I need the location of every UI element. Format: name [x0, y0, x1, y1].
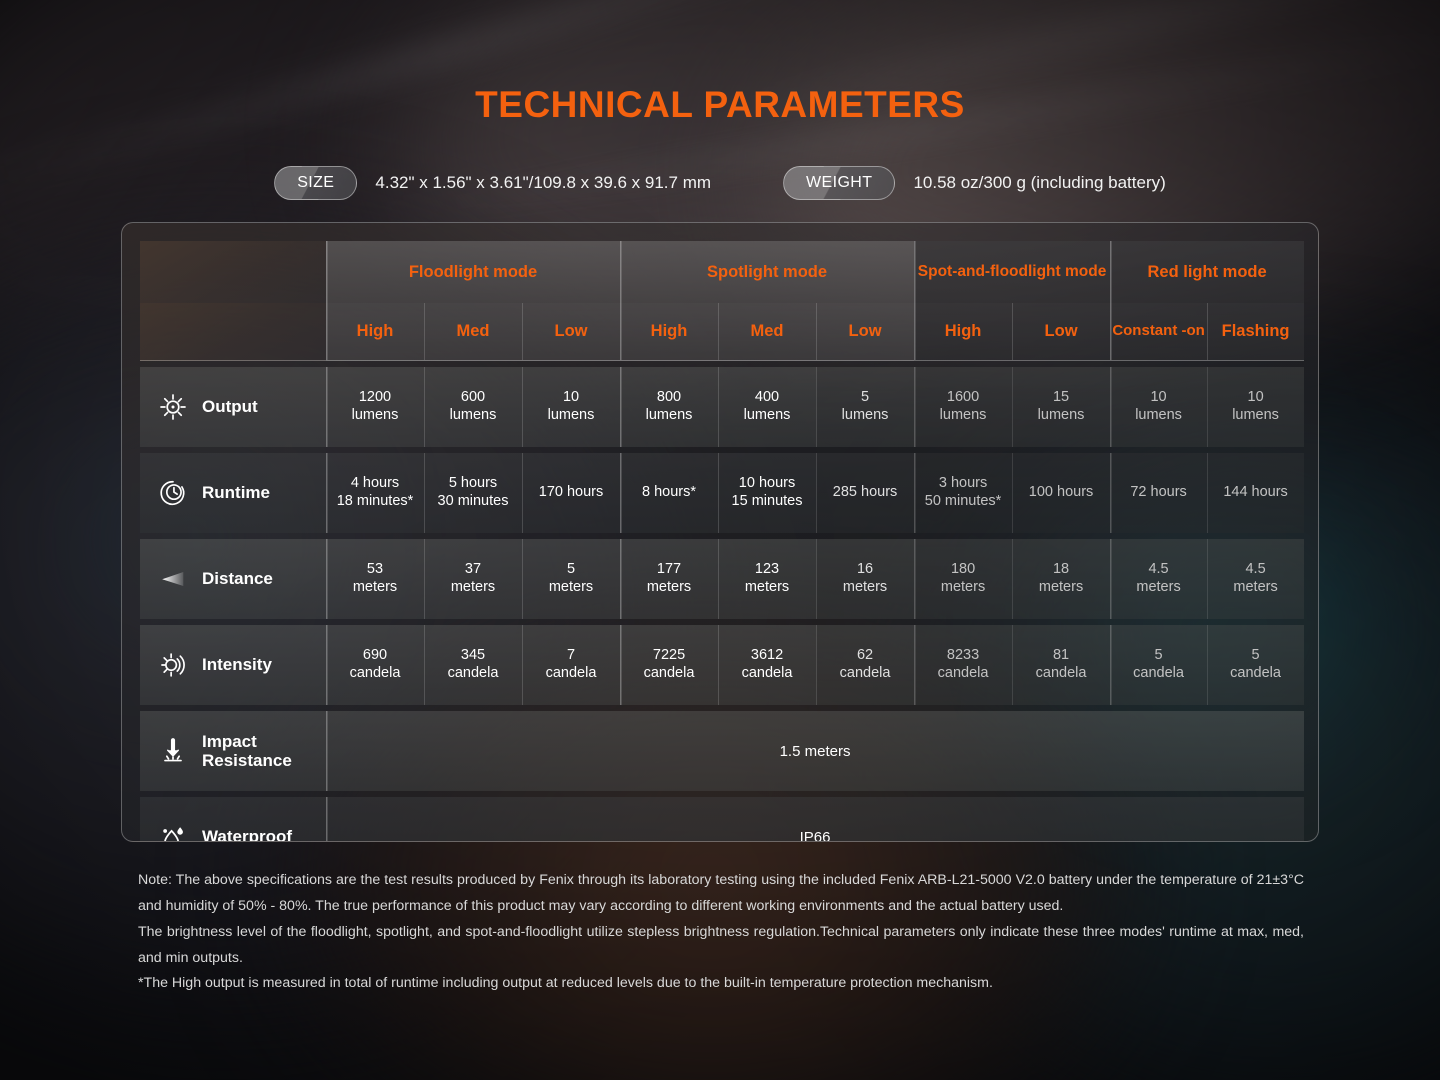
level-header-spotflood-high: High — [914, 303, 1012, 361]
waterdrop-icon — [158, 822, 188, 842]
spec-summary-row: SIZE 4.32" x 1.56" x 3.61"/109.8 x 39.6 … — [0, 166, 1440, 200]
cell-intensity-1: 345candela — [424, 625, 522, 705]
cell-runtime-8: 72 hours — [1110, 453, 1207, 533]
level-header-flood-low: Low — [522, 303, 620, 361]
level-header-spot-high: High — [620, 303, 718, 361]
cell-runtime-1: 5 hours30 minutes — [424, 453, 522, 533]
impact-icon — [158, 736, 188, 766]
cell-distance-9: 4.5meters — [1207, 539, 1304, 619]
cell-output-0: 1200lumens — [326, 367, 424, 447]
cell-runtime-9: 144 hours — [1207, 453, 1304, 533]
cell-runtime-2: 170 hours — [522, 453, 620, 533]
cell-intensity-5: 62candela — [816, 625, 914, 705]
cell-output-8: 10lumens — [1110, 367, 1207, 447]
row-label-runtime: Runtime — [140, 453, 326, 533]
mode-group-header-row: Floodlight mode Spotlight mode Spot-and-… — [140, 241, 1304, 303]
row-label-waterproof: Waterproof — [140, 797, 326, 842]
table-row-runtime: Runtime 4 hours18 minutes* 5 hours30 min… — [140, 453, 1304, 533]
cell-distance-8: 4.5meters — [1110, 539, 1207, 619]
cell-runtime-4: 10 hours15 minutes — [718, 453, 816, 533]
row-label-distance: Distance — [140, 539, 326, 619]
cell-intensity-0: 690candela — [326, 625, 424, 705]
size-pill-label: SIZE — [274, 166, 357, 200]
cell-intensity-7: 81candela — [1012, 625, 1110, 705]
cell-intensity-6: 8233candela — [914, 625, 1012, 705]
cell-runtime-7: 100 hours — [1012, 453, 1110, 533]
footnotes: Note: The above specifications are the t… — [138, 868, 1304, 997]
specifications-table-panel: Floodlight mode Spotlight mode Spot-and-… — [121, 222, 1319, 842]
cell-intensity-4: 3612candela — [718, 625, 816, 705]
table-row-impact-resistance: ImpactResistance 1.5 meters — [140, 711, 1304, 791]
table-corner-lower — [140, 303, 326, 361]
specifications-table: Floodlight mode Spotlight mode Spot-and-… — [140, 241, 1304, 842]
level-header-spot-med: Med — [718, 303, 816, 361]
row-label-text: ImpactResistance — [202, 732, 292, 770]
cell-intensity-9: 5candela — [1207, 625, 1304, 705]
cell-runtime-0: 4 hours18 minutes* — [326, 453, 424, 533]
cell-output-1: 600lumens — [424, 367, 522, 447]
clock-icon — [158, 478, 188, 508]
mode-group-spot-and-floodlight: Spot-and-floodlight mode — [914, 241, 1110, 303]
mode-group-red-light: Red light mode — [1110, 241, 1304, 303]
cell-output-9: 10lumens — [1207, 367, 1304, 447]
size-spec: SIZE 4.32" x 1.56" x 3.61"/109.8 x 39.6 … — [274, 166, 711, 200]
table-corner — [140, 241, 326, 303]
row-label-output: Output — [140, 367, 326, 447]
level-header-spot-low: Low — [816, 303, 914, 361]
weight-pill-label: WEIGHT — [783, 166, 895, 200]
cell-distance-3: 177meters — [620, 539, 718, 619]
table-row-output: Output 1200lumens 600lumens 10lumens 800… — [140, 367, 1304, 447]
page-title: TECHNICAL PARAMETERS — [0, 84, 1440, 126]
cell-output-7: 15lumens — [1012, 367, 1110, 447]
cell-output-5: 5lumens — [816, 367, 914, 447]
cell-output-4: 400lumens — [718, 367, 816, 447]
cell-output-3: 800lumens — [620, 367, 718, 447]
mode-group-spotlight: Spotlight mode — [620, 241, 914, 303]
row-label-intensity: Intensity — [140, 625, 326, 705]
level-header-flood-med: Med — [424, 303, 522, 361]
cell-distance-5: 16meters — [816, 539, 914, 619]
cell-runtime-3: 8 hours* — [620, 453, 718, 533]
row-label-text: Runtime — [202, 483, 270, 502]
cell-waterproof-value: IP66 — [326, 797, 1304, 842]
level-header-row: High Med Low High Med Low High Low Const… — [140, 303, 1304, 361]
footnote-1: Note: The above specifications are the t… — [138, 868, 1304, 920]
level-header-spotflood-low: Low — [1012, 303, 1110, 361]
cell-distance-4: 123meters — [718, 539, 816, 619]
cell-distance-7: 18meters — [1012, 539, 1110, 619]
cell-output-6: 1600lumens — [914, 367, 1012, 447]
table-row-distance: Distance 53meters 37meters 5meters 177me… — [140, 539, 1304, 619]
cell-output-2: 10lumens — [522, 367, 620, 447]
beam-icon — [158, 564, 188, 594]
row-label-text: Intensity — [202, 655, 272, 674]
row-label-text: Distance — [202, 569, 273, 588]
row-label-impact-resistance: ImpactResistance — [140, 711, 326, 791]
mode-group-floodlight: Floodlight mode — [326, 241, 620, 303]
cell-impact-resistance-value: 1.5 meters — [326, 711, 1304, 791]
cell-distance-2: 5meters — [522, 539, 620, 619]
cell-distance-1: 37meters — [424, 539, 522, 619]
cell-runtime-6: 3 hours50 minutes* — [914, 453, 1012, 533]
size-value: 4.32" x 1.56" x 3.61"/109.8 x 39.6 x 91.… — [375, 173, 711, 193]
weight-spec: WEIGHT 10.58 oz/300 g (including battery… — [783, 166, 1166, 200]
weight-value: 10.58 oz/300 g (including battery) — [913, 173, 1165, 193]
table-row-waterproof: Waterproof IP66 — [140, 797, 1304, 842]
level-header-flood-high: High — [326, 303, 424, 361]
sun-icon — [158, 392, 188, 422]
footnote-2: The brightness level of the floodlight, … — [138, 920, 1304, 972]
row-label-text: Waterproof — [202, 827, 292, 842]
cell-distance-0: 53meters — [326, 539, 424, 619]
table-row-intensity: Intensity 690candela 345candela 7candela… — [140, 625, 1304, 705]
cell-intensity-3: 7225candela — [620, 625, 718, 705]
cell-runtime-5: 285 hours — [816, 453, 914, 533]
cell-intensity-8: 5candela — [1110, 625, 1207, 705]
footnote-3: *The High output is measured in total of… — [138, 971, 1304, 997]
cell-distance-6: 180meters — [914, 539, 1012, 619]
level-header-red-flashing: Flashing — [1207, 303, 1304, 361]
row-label-text: Output — [202, 397, 258, 416]
level-header-red-constant-on: Constant -on — [1110, 303, 1207, 361]
intensity-icon — [158, 650, 188, 680]
cell-intensity-2: 7candela — [522, 625, 620, 705]
